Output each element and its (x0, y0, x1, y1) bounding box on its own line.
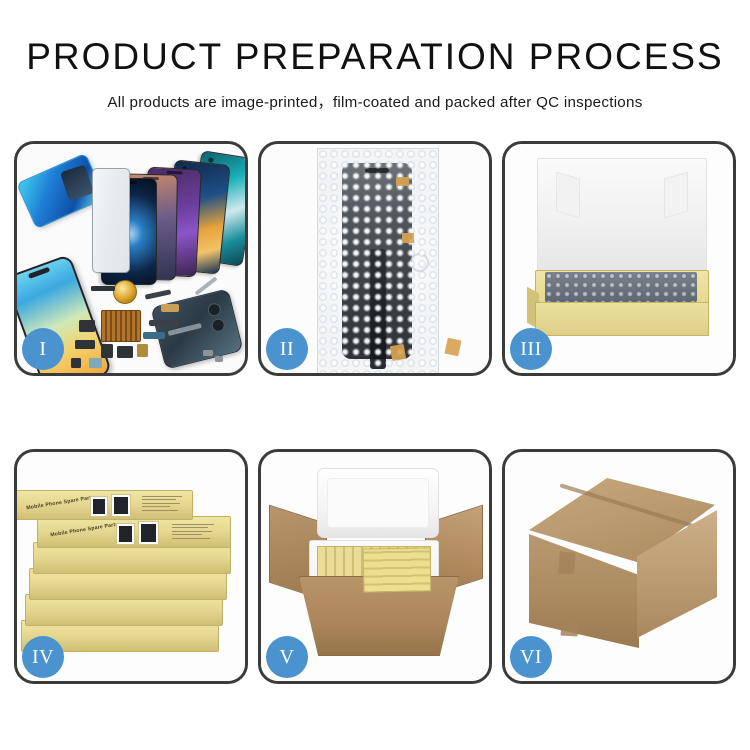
process-steps-grid: I II (14, 141, 736, 684)
step-badge-2: II (266, 328, 308, 370)
inner-box-front-icon (535, 302, 709, 336)
header: PRODUCT PREPARATION PROCESS All products… (0, 0, 750, 112)
bubble-wrap-fill-icon (545, 272, 697, 302)
part-speaker (91, 286, 115, 291)
box-text-lines-1 (142, 496, 184, 513)
step-badge-1: I (22, 328, 64, 370)
step-badge-5: V (266, 636, 308, 678)
part-flex-cable-2 (161, 304, 179, 312)
part-screw-2 (215, 356, 223, 362)
tape-strip-2 (402, 233, 414, 243)
part-module-5 (137, 344, 148, 357)
step-panel-3: III (502, 141, 736, 376)
page-title: PRODUCT PREPARATION PROCESS (0, 36, 750, 77)
step-badge-4: IV (22, 636, 64, 678)
part-module-4 (117, 346, 133, 358)
page-subtitle: All products are image-printed，film-coat… (0, 90, 750, 112)
chip-array-icon (101, 310, 141, 342)
bubble-texture-icon (318, 149, 438, 373)
part-screw-1 (203, 350, 213, 356)
step-panel-1: I (14, 141, 248, 376)
tape-strip-3 (390, 344, 406, 361)
part-module-1 (79, 320, 95, 332)
part-module-7 (71, 358, 81, 368)
part-flex-cable-4 (143, 332, 165, 339)
step-panel-6: VI (502, 449, 736, 684)
tape-strip-1 (396, 177, 409, 186)
wireless-coil-icon (113, 280, 137, 304)
retail-box-1: Mobile Phone Spare Parts (17, 490, 193, 520)
step-panel-4: Mobile Phone Spare Parts Mobile Phone Sp… (14, 449, 248, 684)
part-module-3 (101, 344, 113, 358)
retail-box-2: Mobile Phone Spare Parts (37, 516, 231, 548)
box-thumb-2 (111, 494, 131, 517)
part-module-6 (89, 358, 102, 368)
carton-tape-2 (561, 620, 579, 637)
box-thumb-3 (116, 523, 135, 545)
carton-tape-1 (558, 551, 575, 574)
step-panel-2: II (258, 141, 492, 376)
box-thumb-1 (90, 496, 108, 517)
box-thumb-4 (138, 521, 159, 545)
packed-boxes-row-2 (363, 547, 432, 592)
box-text-lines-2 (172, 524, 216, 541)
step-panel-5: V (258, 449, 492, 684)
lid-flap-left (556, 172, 580, 219)
step-badge-6: VI (510, 636, 552, 678)
retail-box-label-1: Mobile Phone Spare Parts (26, 495, 95, 512)
step-badge-3: III (510, 328, 552, 370)
bubble-wrap-package-icon (317, 148, 439, 373)
foam-lid-icon (317, 468, 439, 538)
lid-flap-right (664, 172, 688, 219)
part-flex-cable-3 (149, 320, 179, 326)
inner-box-lid-icon (537, 158, 707, 278)
product-preparation-infographic: PRODUCT PREPARATION PROCESS All products… (0, 0, 750, 750)
tempered-glass-icon (92, 168, 130, 273)
part-module-2 (75, 340, 95, 349)
retail-box-label-2: Mobile Phone Spare Parts (50, 522, 119, 539)
